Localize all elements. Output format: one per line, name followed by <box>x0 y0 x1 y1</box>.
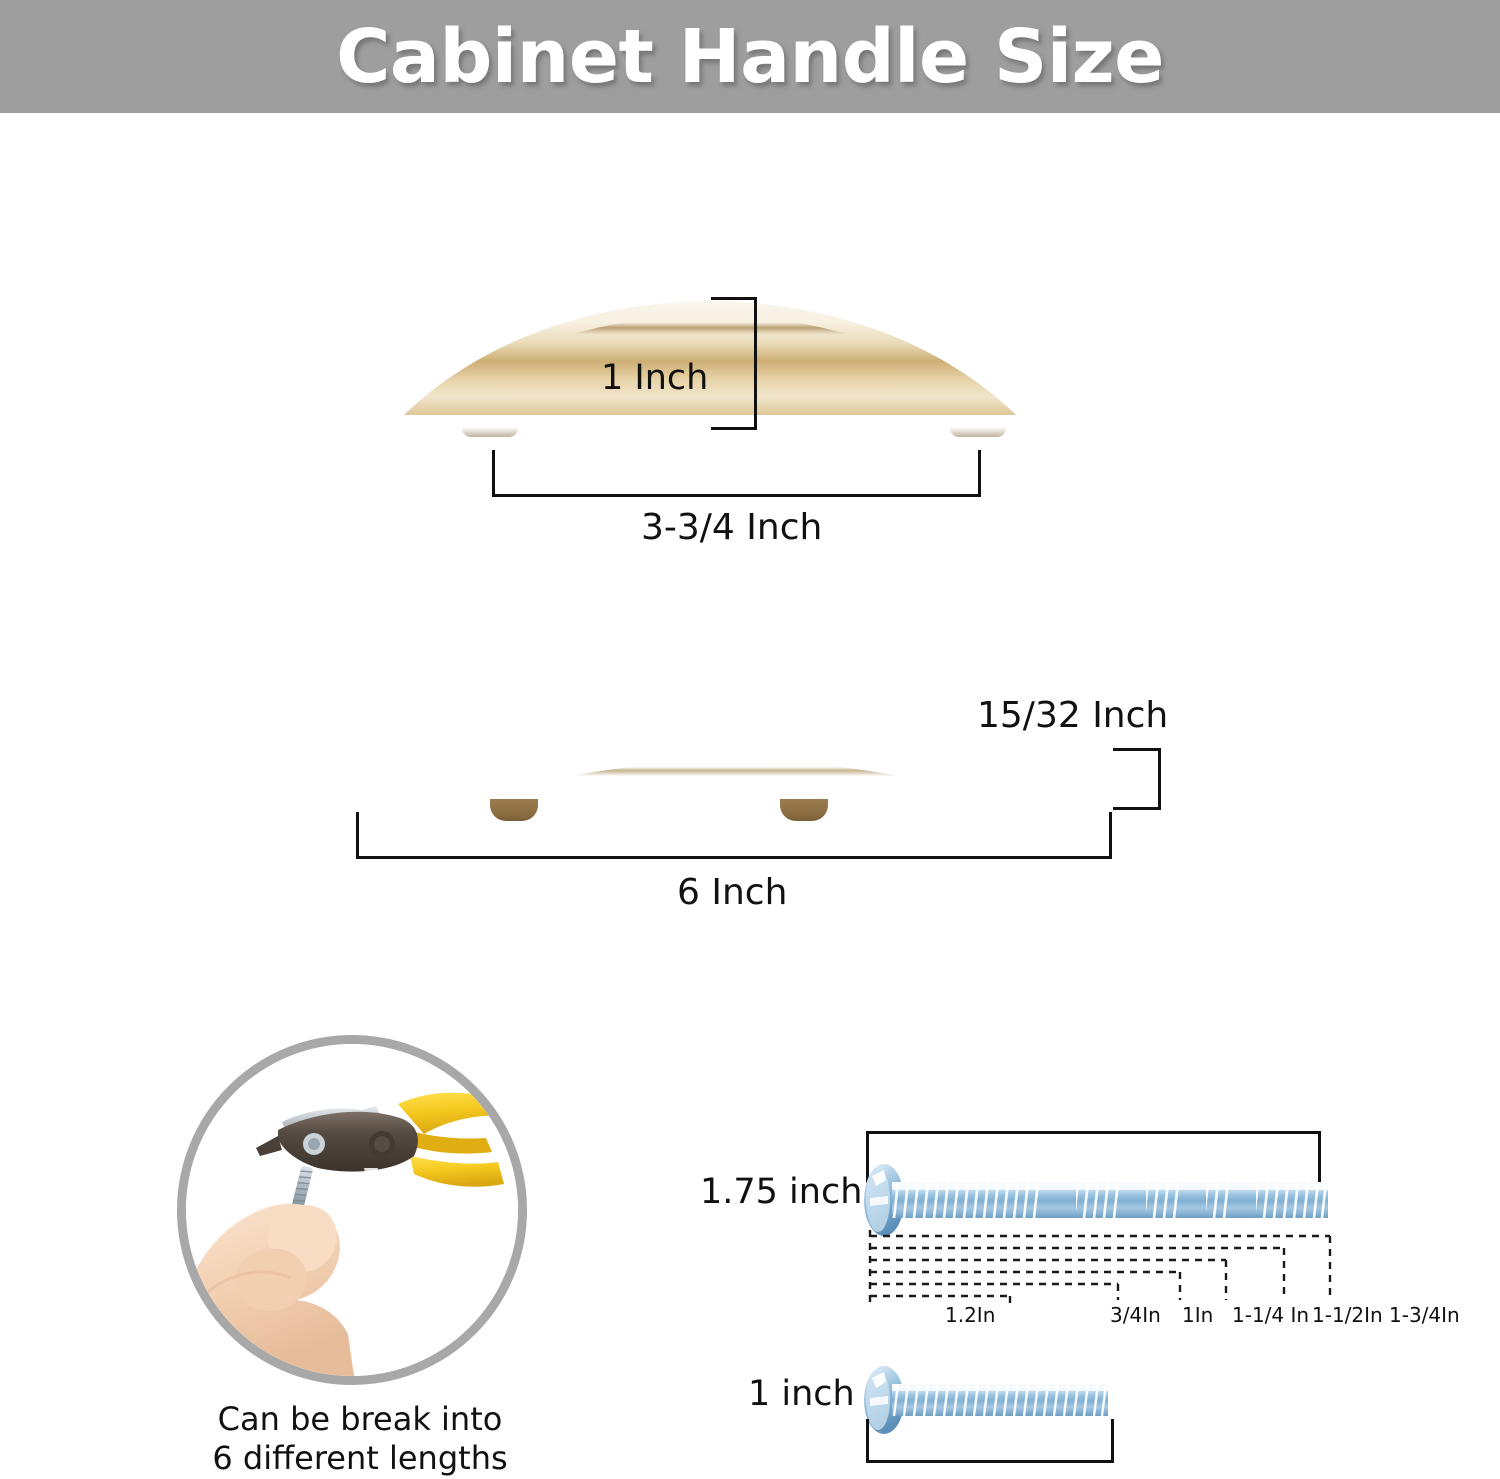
screw-total-length-label: 1.75 inch <box>700 1172 862 1212</box>
bracket-tick-left <box>492 450 495 497</box>
dimension-label-depth: 15/32 Inch <box>977 695 1168 736</box>
photo-caption: Can be break into 6 different lengths <box>160 1400 560 1478</box>
photo-caption-line-1: Can be break into <box>160 1400 560 1439</box>
handle-post-left <box>462 351 518 437</box>
page-title: Cabinet Handle Size <box>336 14 1164 100</box>
bracket-tick-top <box>1113 748 1161 751</box>
dimension-label-overall-length: 6 Inch <box>677 872 787 913</box>
screw-length-step-brackets <box>860 1230 1335 1308</box>
bracket-tick-left <box>866 1419 869 1463</box>
handle-body-front <box>355 735 1115 808</box>
bracket-tick-right <box>1111 1419 1114 1463</box>
step-label-2: 3/4In <box>1110 1303 1161 1327</box>
bracket-line-horizontal <box>866 1460 1114 1463</box>
header-bar: Cabinet Handle Size <box>0 0 1500 113</box>
dimension-label-center-to-center: 3-3/4 Inch <box>641 507 822 548</box>
bracket-tick-right <box>978 450 981 497</box>
bracket-tick-bottom <box>711 427 757 430</box>
step-label-4: 1-1/4 In <box>1232 1303 1309 1327</box>
step-label-3: 1In <box>1182 1303 1213 1327</box>
screw-length-step-labels: 1.2In 3/4In 1In 1-1/4 In 1-1/2In 1-3/4In <box>860 1303 1360 1337</box>
bracket-tick-left <box>356 812 359 859</box>
dimension-bracket-projection <box>711 297 757 430</box>
handle-post-right <box>950 351 1006 437</box>
dimension-label-projection: 1 Inch <box>601 358 708 398</box>
dimension-bracket-screw-short <box>866 1419 1114 1463</box>
bracket-tick-right <box>1109 812 1112 859</box>
screw-short-length-label: 1 inch <box>748 1374 855 1414</box>
dimension-bracket-depth <box>1113 748 1161 810</box>
bracket-line-vertical <box>1158 748 1161 810</box>
step-label-5: 1-1/2In <box>1312 1303 1383 1327</box>
photo-caption-line-2: 6 different lengths <box>160 1439 560 1478</box>
step-label-6: 1-3/4In <box>1389 1303 1460 1327</box>
cabinet-handle-arched-view <box>350 295 1070 450</box>
bracket-line-horizontal <box>492 494 981 497</box>
photo-hand-cutting-screw <box>177 1035 527 1385</box>
bracket-tick-bottom <box>1113 807 1161 810</box>
step-label-1: 1.2In <box>945 1303 995 1327</box>
dimension-bracket-overall-length <box>356 812 1112 859</box>
dimension-bracket-center-to-center <box>492 450 981 497</box>
bracket-line-vertical <box>754 297 757 430</box>
bracket-line-horizontal <box>866 1131 1321 1134</box>
bracket-line-horizontal <box>356 856 1112 859</box>
bracket-tick-top <box>711 297 757 300</box>
